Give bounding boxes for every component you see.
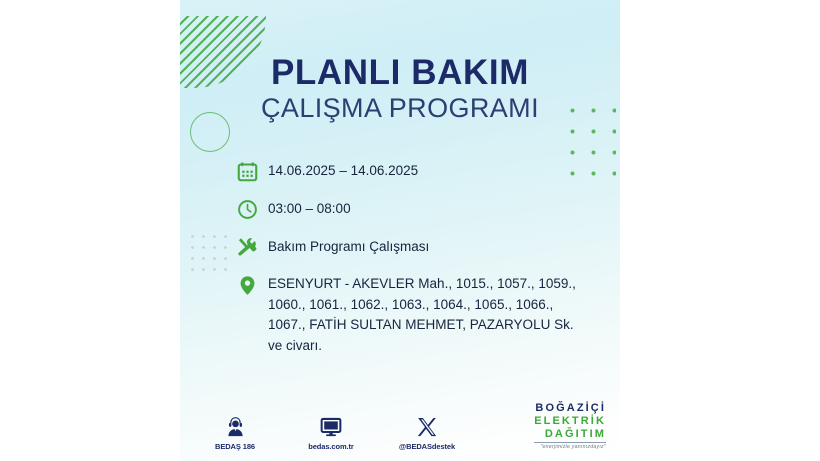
maintenance-time-range: 03:00 – 08:00: [268, 196, 351, 220]
detail-row-work-type: Bakım Programı Çalışması: [234, 234, 584, 260]
brand-line-dagitim: DAĞITIM: [534, 428, 606, 441]
contact-channels: BEDAŞ 186 bedas.com.tr @BEDASdestek: [198, 412, 464, 451]
brand-tagline: "enerjimizle yanınızdayız": [534, 442, 606, 450]
contact-website[interactable]: bedas.com.tr: [294, 412, 368, 451]
detail-row-time: 03:00 – 08:00: [234, 196, 584, 222]
monitor-icon: [319, 412, 343, 438]
contact-x-label: @BEDASdestek: [399, 442, 455, 451]
maintenance-work-type: Bakım Programı Çalışması: [268, 234, 429, 258]
poster-heading: PLANLI BAKIM ÇALIŞMA PROGRAMI: [180, 55, 620, 124]
contact-phone-label: BEDAŞ 186: [215, 442, 255, 451]
support-agent-icon: [224, 412, 247, 438]
contact-phone[interactable]: BEDAŞ 186: [198, 412, 272, 451]
maintenance-date-range: 14.06.2025 – 14.06.2025: [268, 158, 418, 182]
x-twitter-icon: [416, 412, 438, 438]
detail-row-date: 14.06.2025 – 14.06.2025: [234, 158, 584, 184]
maintenance-location: ESENYURT - AKEVLER Mah., 1015., 1057., 1…: [268, 272, 584, 356]
page-subtitle: ÇALIŞMA PROGRAMI: [180, 94, 620, 123]
detail-row-location: ESENYURT - AKEVLER Mah., 1015., 1057., 1…: [234, 272, 584, 356]
tools-icon: [234, 234, 260, 260]
location-pin-icon: [234, 272, 260, 298]
brand-line-elektrik: ELEKTRİK: [534, 415, 606, 428]
clock-icon: [234, 196, 260, 222]
maintenance-details-list: 14.06.2025 – 14.06.2025 03:00 – 08:00 Ba…: [234, 158, 584, 368]
planned-maintenance-poster: PLANLI BAKIM ÇALIŞMA PROGRAMI: [180, 0, 620, 461]
calendar-icon: [234, 158, 260, 184]
brand-line-bogazici: BOĞAZİÇİ: [534, 402, 606, 415]
contact-website-label: bedas.com.tr: [308, 442, 353, 451]
dot-grid-decoration-left: [186, 230, 230, 278]
contact-x-account[interactable]: @BEDASdestek: [390, 412, 464, 451]
bedas-logo: BOĞAZİÇİ ELEKTRİK DAĞITIM "enerjimizle y…: [534, 402, 606, 450]
page-title: PLANLI BAKIM: [180, 55, 620, 91]
